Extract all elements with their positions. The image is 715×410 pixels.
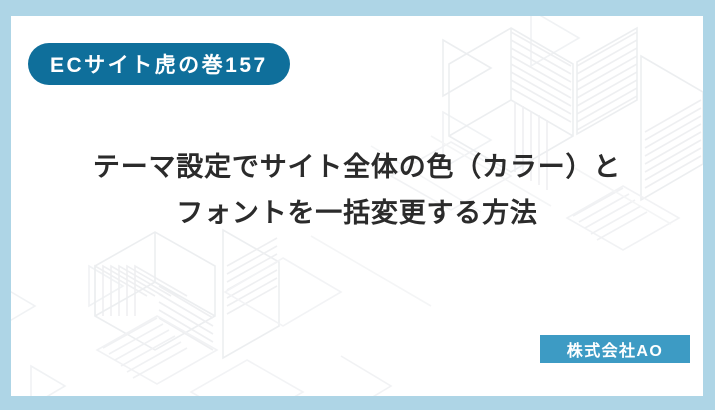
frame-border-bottom xyxy=(0,396,715,410)
frame-border-left xyxy=(0,0,11,410)
episode-badge: ECサイト虎の巻157 xyxy=(28,43,290,85)
frame-border-right xyxy=(703,0,715,410)
page-title: テーマ設定でサイト全体の色（カラー）と フォントを一括変更する方法 xyxy=(11,144,703,237)
company-name-tag: 株式会社AO xyxy=(540,335,690,363)
title-slide: ECサイト虎の巻157 テーマ設定でサイト全体の色（カラー）と フォントを一括変… xyxy=(0,0,715,410)
page-title-line-1: テーマ設定でサイト全体の色（カラー）と xyxy=(11,144,703,190)
frame-border-top xyxy=(0,0,715,16)
page-title-line-2: フォントを一括変更する方法 xyxy=(11,190,703,236)
slide-canvas: ECサイト虎の巻157 テーマ設定でサイト全体の色（カラー）と フォントを一括変… xyxy=(11,16,703,396)
